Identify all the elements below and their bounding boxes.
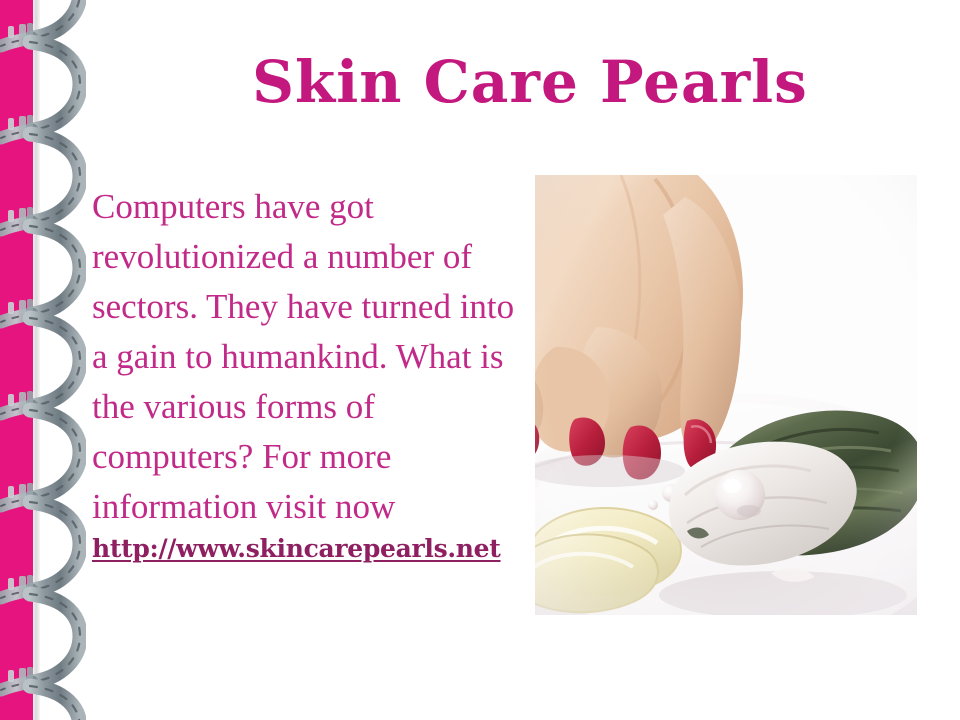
- binding-coil: [1, 134, 80, 230]
- binding-coil: [1, 226, 80, 322]
- presentation-slide: Skin Care Pearls Computers have got revo…: [0, 0, 960, 720]
- body-paragraph: Computers have got revolutionized a numb…: [92, 182, 522, 532]
- binding-coil: [1, 318, 80, 414]
- slide-title: Skin Care Pearls: [150, 52, 910, 113]
- spiral-binding: [0, 0, 86, 720]
- binding-coil: [1, 410, 80, 506]
- binding-coil: [1, 594, 80, 690]
- binding-coil-group: [0, 0, 86, 720]
- oyster-pearl-hand-photo: [535, 175, 917, 615]
- website-link[interactable]: http://www.skincarepearls.net: [92, 534, 522, 564]
- binding-coil: [1, 502, 80, 598]
- photo-artwork: [535, 175, 917, 615]
- slide-body: Computers have got revolutionized a numb…: [92, 182, 522, 564]
- binding-coil: [1, 42, 80, 138]
